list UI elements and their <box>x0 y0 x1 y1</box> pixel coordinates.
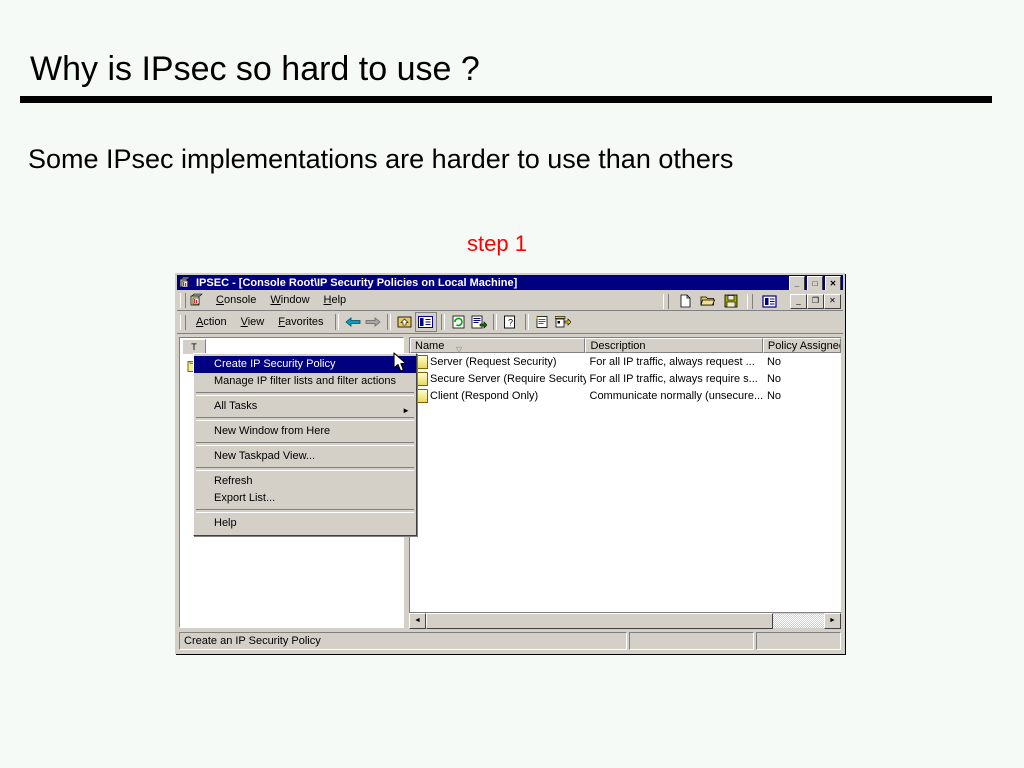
forward-arrow-icon[interactable] <box>363 313 383 331</box>
toolbar-drag-grip[interactable] <box>180 315 186 330</box>
mdi-close-button[interactable]: ✕ <box>824 294 841 309</box>
menu-drag-grip[interactable] <box>180 293 186 308</box>
toolbar-menu-view[interactable]: View <box>234 314 272 330</box>
table-row[interactable]: Secure Server (Require Security) For all… <box>410 370 841 387</box>
scrollbar-thumb[interactable] <box>426 613 773 629</box>
row-description: For all IP traffic, always require s... <box>586 373 763 385</box>
tree-toggle-grip[interactable] <box>747 294 753 309</box>
submenu-arrow-icon: ► <box>402 402 410 419</box>
menu-item-refresh[interactable]: Refresh <box>194 473 416 490</box>
menubar-icons-grip[interactable] <box>663 294 669 309</box>
new-document-icon[interactable] <box>675 292 695 310</box>
export-list-icon[interactable] <box>469 313 489 331</box>
menubar-icon-group: _ ❐ ✕ <box>660 292 841 310</box>
action-context-menu[interactable]: Create IP Security Policy Manage IP filt… <box>193 353 417 536</box>
toolbar-separator-5 <box>525 314 529 330</box>
create-policy-icon[interactable] <box>553 313 573 331</box>
row-policy-assigned: No <box>763 373 841 385</box>
slide-subtitle: Some IPsec implementations are harder to… <box>28 144 733 175</box>
window-titlebar: IPSEC - [Console Root\IP Security Polici… <box>177 275 843 290</box>
svg-text:?: ? <box>508 318 513 328</box>
row-description: For all IP traffic, always request ... <box>586 356 763 368</box>
properties-icon[interactable] <box>533 313 553 331</box>
row-name: Secure Server (Require Security) <box>430 373 586 385</box>
toolbar-separator-4 <box>493 314 497 330</box>
scroll-right-button[interactable]: ► <box>824 613 841 629</box>
action-toolbar: Action View Favorites ? <box>177 311 843 334</box>
open-folder-icon[interactable] <box>698 292 718 310</box>
page-title: Why is IPsec so hard to use ? <box>30 50 480 89</box>
window-title-text: IPSEC - [Console Root\IP Security Polici… <box>196 277 517 289</box>
mdi-restore-button[interactable]: ❐ <box>807 294 824 309</box>
column-header-description[interactable]: Description <box>585 338 762 353</box>
save-disk-icon[interactable] <box>721 292 741 310</box>
status-message: Create an IP Security Policy <box>179 632 627 650</box>
column-header-name[interactable]: Name ▽ <box>410 338 585 353</box>
menu-item-console[interactable]: Console <box>209 292 263 308</box>
menu-item-all-tasks[interactable]: All Tasks ► <box>194 398 416 415</box>
refresh-icon[interactable] <box>449 313 469 331</box>
scroll-left-button[interactable]: ◄ <box>409 613 426 629</box>
row-policy-assigned: No <box>763 356 841 368</box>
menu-item-export-list[interactable]: Export List... <box>194 490 416 507</box>
menu-bar: Console Window Help _ ❐ ✕ <box>177 290 843 311</box>
show-hide-tree-icon[interactable] <box>415 312 437 332</box>
mdi-window-controls: _ ❐ ✕ <box>790 294 841 309</box>
ip-policy-icon <box>417 389 428 403</box>
menu-item-window[interactable]: Window <box>263 292 316 308</box>
menu-item-new-taskpad-view[interactable]: New Taskpad View... <box>194 448 416 465</box>
list-column-headers: Name ▽ Description Policy Assigned <box>410 338 841 353</box>
mmc-console-window: IPSEC - [Console Root\IP Security Polici… <box>175 273 845 654</box>
mmc-small-icon <box>189 292 205 308</box>
row-policy-assigned: No <box>763 390 841 402</box>
menu-item-new-window-from-here[interactable]: New Window from Here <box>194 423 416 440</box>
menu-separator <box>196 392 414 396</box>
ip-policy-icon <box>417 372 428 386</box>
tree-tab[interactable]: T <box>182 339 206 354</box>
table-row[interactable]: Client (Respond Only) Communicate normal… <box>410 387 841 404</box>
status-panel-2 <box>629 632 754 650</box>
back-arrow-icon[interactable] <box>343 313 363 331</box>
ip-policy-icon <box>417 355 428 369</box>
help-icon[interactable]: ? <box>501 313 521 331</box>
menu-separator <box>196 417 414 421</box>
mdi-minimize-button[interactable]: _ <box>790 294 807 309</box>
row-name: Server (Request Security) <box>430 356 557 368</box>
policy-list-pane[interactable]: Name ▽ Description Policy Assigned Serve… <box>409 337 841 628</box>
menu-separator <box>196 442 414 446</box>
title-divider <box>20 96 992 103</box>
toolbar-menu-favorites[interactable]: Favorites <box>271 314 330 330</box>
console-tree-toggle-icon[interactable] <box>759 292 779 310</box>
minimize-button[interactable]: _ <box>789 276 805 291</box>
maximize-button[interactable]: □ <box>807 276 823 291</box>
column-header-policy-assigned[interactable]: Policy Assigned <box>763 338 841 353</box>
toolbar-separator-3 <box>441 314 445 330</box>
menu-item-help[interactable]: Help <box>194 515 416 532</box>
menu-item-manage-ip-filter-lists[interactable]: Manage IP filter lists and filter action… <box>194 373 416 390</box>
toolbar-separator <box>335 314 339 330</box>
toolbar-menu-action[interactable]: Action <box>189 314 234 330</box>
menu-item-help[interactable]: Help <box>317 292 354 308</box>
sort-descending-icon: ▽ <box>456 342 462 353</box>
step-label: step 1 <box>467 231 527 257</box>
mmc-console-icon <box>179 276 192 289</box>
close-button[interactable]: ✕ <box>825 276 841 291</box>
row-name: Client (Respond Only) <box>430 390 538 402</box>
menu-separator <box>196 509 414 513</box>
up-one-level-icon[interactable] <box>395 313 415 331</box>
menu-item-create-ip-security-policy[interactable]: Create IP Security Policy <box>194 356 416 373</box>
menu-separator <box>196 467 414 471</box>
horizontal-scrollbar[interactable]: ◄ ► <box>409 612 841 628</box>
row-description: Communicate normally (unsecure... <box>586 390 763 402</box>
window-controls: _ □ ✕ <box>789 276 841 291</box>
status-panel-3 <box>756 632 841 650</box>
table-row[interactable]: Server (Request Security) For all IP tra… <box>410 353 841 370</box>
status-bar: Create an IP Security Policy <box>179 632 841 650</box>
toolbar-separator-2 <box>387 314 391 330</box>
scrollbar-track[interactable] <box>773 614 824 628</box>
